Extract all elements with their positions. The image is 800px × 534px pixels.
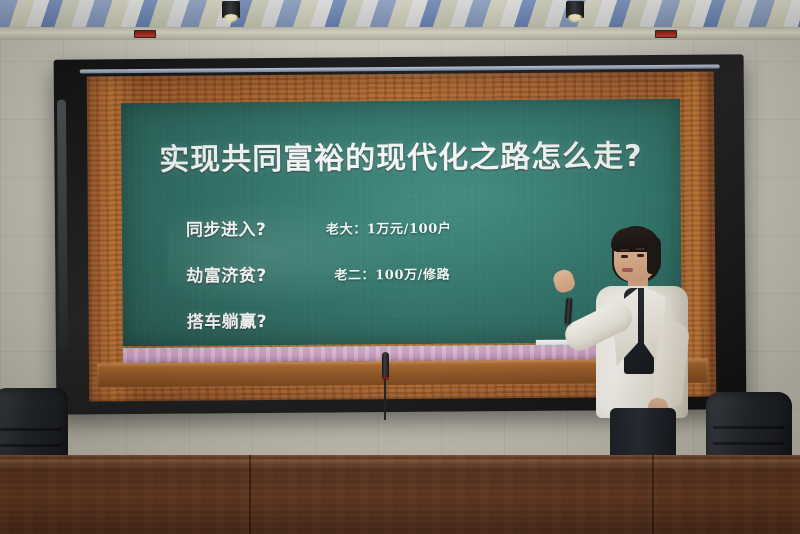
podium-desk	[0, 455, 800, 534]
chair-slat	[0, 444, 62, 447]
chair-slat	[713, 442, 785, 445]
slide-title: 实现共同富裕的现代化之路怎么走?	[121, 131, 680, 179]
podium-microphone	[381, 352, 391, 420]
pendant-lamp-left	[222, 1, 240, 23]
presentation-pointer[interactable]	[565, 298, 573, 324]
microphone-head	[382, 352, 389, 378]
slide-bullet-1: 同步进入?	[186, 215, 267, 241]
presenter-brow-left	[620, 249, 629, 251]
chair-slat	[0, 428, 62, 431]
pendant-lamp-right	[566, 1, 584, 23]
board-side-hardware	[57, 100, 68, 350]
presenter-brow-right	[636, 248, 645, 250]
microphone-stem	[384, 379, 386, 420]
presenter-eye-right	[637, 254, 644, 257]
emergency-light-left	[134, 30, 156, 38]
slide-note-2: 老二：100万/修路	[334, 264, 450, 284]
slide-bullet-3: 搭车躺赢?	[187, 307, 268, 333]
lecture-hall-scene: 实现共同富裕的现代化之路怎么走? 同步进入? 劫富济贫? 搭车躺赢? 老大：1万…	[0, 0, 800, 534]
slide-note-1: 老大：1万元/100户	[326, 218, 452, 238]
ceiling-shading	[0, 0, 800, 30]
lamp-glow	[223, 14, 239, 23]
presenter-eye-left	[621, 255, 628, 258]
presenter-hair-side	[647, 236, 661, 274]
presenter-hand-left	[551, 267, 577, 294]
chair-slat	[713, 426, 785, 429]
lamp-glow	[567, 14, 583, 23]
desk-panel-seam	[652, 455, 654, 534]
ceiling-striped-panel	[0, 0, 800, 30]
presenter-mouth	[622, 268, 633, 272]
desk-panel-seam	[249, 455, 251, 534]
presenter	[552, 226, 712, 474]
desk-woodgrain	[0, 455, 800, 534]
wall-upper-trim	[0, 28, 800, 40]
emergency-light-right	[655, 30, 677, 38]
slide-bullet-2: 劫富济贫?	[186, 261, 267, 287]
